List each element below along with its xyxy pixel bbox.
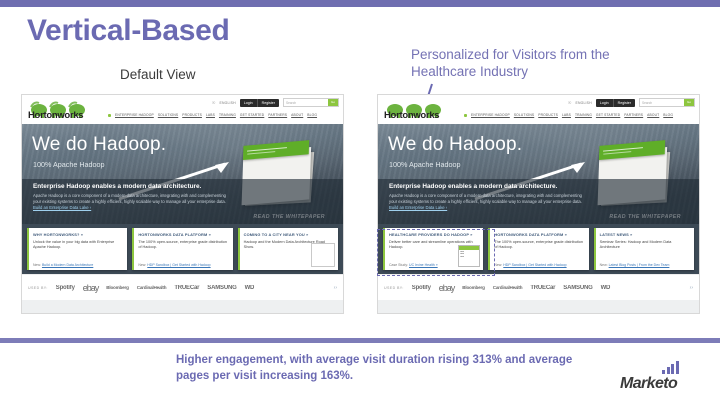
promo-card-title: HORTONWORKS DATA PLATFORM » [138,232,228,237]
footer-strip [22,300,343,313]
partner-logo-cardinalhealth: CardinalHealth [493,285,523,290]
account-buttons[interactable]: Login Register [596,99,635,107]
personalization-highlight-box [377,229,495,276]
hero-band-link[interactable]: Build an Enterprise Data Lake › [33,205,91,210]
partner-logo-samsung: SAMSUNG [563,285,592,291]
nav-item-get-started[interactable]: GET STARTED [240,113,264,117]
personalized-view-screenshot: Hortonworks ☉ ENGLISH Login Register Sea… [378,95,699,313]
globe-icon: ☉ [212,100,216,105]
promo-card-more-link[interactable]: Build a Modern Data Architecture [42,263,93,267]
promo-card-body: The 100% open-source, enterprise grade d… [138,240,228,250]
used-by-label: USED BY: [384,286,404,290]
home-icon[interactable] [108,114,111,117]
main-nav[interactable]: ENTERPRISE HADOOPSOLUTIONSPRODUCTSLABSTR… [108,113,317,117]
nav-item-about[interactable]: ABOUT [647,113,659,117]
header-utility-bar: ☉ ENGLISH Login Register Search Go [212,98,339,107]
nav-item-products[interactable]: PRODUCTS [182,113,202,117]
promo-card-more-link[interactable]: HDP Sandbox | Get Started with Hadoop [147,263,210,267]
hero-band-body: Apache Hadoop is a core component of a m… [389,193,589,212]
hero-subhead: 100% Apache Hadoop [33,160,105,169]
slide: Vertical-Based Default View Personalized… [0,0,720,405]
nav-item-solutions[interactable]: SOLUTIONS [514,113,534,117]
nav-item-blog[interactable]: BLOG [307,113,317,117]
language-label[interactable]: ENGLISH [576,101,592,105]
nav-item-partners[interactable]: PARTNERS [624,113,643,117]
used-by-strip: USED BY:SpotifyebayBloombergCardinalHeal… [22,274,343,300]
promo-card-body: The 100% open-source, enterprise grade d… [494,240,584,250]
promo-card-more-label: New: [600,263,609,267]
search-box[interactable]: Search Go [283,98,339,107]
footer-strip [378,300,699,313]
promo-card-title: LATEST NEWS » [600,232,690,237]
right-column-caption-line-0: Personalized for Visitors from the [411,46,671,63]
slide-kicker: Higher engagement, with average visit du… [176,352,596,384]
partner-logo-ebay: ebay [83,283,99,293]
partner-logo-wd: WD [601,285,611,291]
hero-band-body: Apache Hadoop is a core component of a m… [33,193,233,212]
hero-band-text: Apache Hadoop is a core component of a m… [389,193,582,204]
promo-card-more: New: HDP Sandbox | Get Started with Hado… [138,263,210,267]
nav-item-enterprise-hadoop[interactable]: ENTERPRISE HADOOP [115,113,154,117]
promo-card-more-link[interactable]: HDP Sandbox | Get Started with Hadoop [503,263,566,267]
globe-icon: ☉ [568,100,572,105]
hero-band-text: Apache Hadoop is a core component of a m… [33,193,226,204]
promo-card-more-label: New: [494,263,503,267]
partner-logo-cardinalhealth: CardinalHealth [137,285,167,290]
search-input[interactable]: Search [284,101,328,105]
home-icon[interactable] [464,114,467,117]
right-column-caption-line-1: Healthcare Industry [411,63,671,80]
hero-banner: We do Hadoop. 100% Apache Hadoop READ TH… [378,124,699,224]
promo-card-more: New: HDP Sandbox | Get Started with Hado… [494,263,566,267]
nav-item-labs[interactable]: LABS [206,113,215,117]
partner-logo-truecar: TRUECar [174,285,199,291]
promo-card[interactable]: COMING TO A CITY NEAR YOU »Hadoop and th… [238,228,338,270]
search-box[interactable]: Search Go [639,98,695,107]
promo-card[interactable]: LATEST NEWS »Seminar Series: Hadoop and … [594,228,694,270]
register-button[interactable]: Register [257,99,279,107]
search-input[interactable]: Search [640,101,684,105]
left-column-caption: Default View [120,67,196,82]
search-go-button[interactable]: Go [328,99,338,106]
nav-item-training[interactable]: TRAINING [219,113,236,117]
hero-subhead: 100% Apache Hadoop [389,160,461,169]
top-accent-rule [0,0,720,7]
promo-card[interactable]: HORTONWORKS DATA PLATFORM »The 100% open… [488,228,588,270]
marketo-logo-text: Marketo [620,375,677,393]
nav-item-about[interactable]: ABOUT [291,113,303,117]
page-title: Vertical-Based [27,14,230,48]
login-button[interactable]: Login [240,99,257,107]
partner-logo-samsung: SAMSUNG [207,285,236,291]
partner-logo-bloomberg: Bloomberg [106,285,128,290]
main-nav[interactable]: ENTERPRISE HADOOPSOLUTIONSPRODUCTSLABSTR… [464,113,673,117]
hero-band-link[interactable]: Build an Enterprise Data Lake › [389,205,447,210]
hero-band-title: Enterprise Hadoop enables a modern data … [33,183,201,190]
promo-card-title: COMING TO A CITY NEAR YOU » [244,232,334,237]
account-buttons[interactable]: Login Register [240,99,279,107]
register-button[interactable]: Register [613,99,635,107]
promo-card[interactable]: WHY HORTONWORKS? »Unlock the value in yo… [27,228,127,270]
nav-item-get-started[interactable]: GET STARTED [596,113,620,117]
calendar-widget[interactable] [311,243,335,267]
hero-headline: We do Hadoop. [32,134,166,156]
promo-card-title: HORTONWORKS DATA PLATFORM » [494,232,584,237]
default-view-screenshot: Hortonworks ☉ ENGLISH Login Register Sea… [22,95,343,313]
promo-card-more-label: New: [138,263,147,267]
partner-logo-ebay: ebay [439,283,455,293]
promo-cards-default: WHY HORTONWORKS? »Unlock the value in yo… [22,224,343,274]
promo-card-body: Seminar Series: Hadoop and Modern Data A… [600,240,690,250]
bar-chart-icon [662,360,679,374]
hero-band-title: Enterprise Hadoop enables a modern data … [389,183,557,190]
language-label[interactable]: ENGLISH [220,101,236,105]
partner-logo-bloomberg: Bloomberg [462,285,484,290]
partner-logo-wd: WD [245,285,255,291]
promo-card-more: New: Latest Blog Posts | From the Dev Te… [600,263,670,267]
promo-card-title: WHY HORTONWORKS? » [33,232,123,237]
promo-card-more-link[interactable]: Latest Blog Posts | From the Dev Team [609,263,670,267]
search-go-button[interactable]: Go [684,99,694,106]
promo-card-body: Unlock the value in your big data with E… [33,240,123,250]
partner-logo-spotify: Spotify [56,285,75,291]
nav-item-solutions[interactable]: SOLUTIONS [158,113,178,117]
site-logo-text: Hortonworks [28,110,83,121]
login-button[interactable]: Login [596,99,613,107]
hero-banner: We do Hadoop. 100% Apache Hadoop READ TH… [22,124,343,224]
nav-item-products[interactable]: PRODUCTS [538,113,558,117]
right-column-caption: Personalized for Visitors from theHealth… [411,46,671,80]
bottom-accent-rule [0,338,720,343]
header-utility-bar: ☉ ENGLISH Login Register Search Go [568,98,695,107]
site-header-personalized: Hortonworks ☉ ENGLISH Login Register Sea… [378,95,699,124]
next-arrow-icon[interactable]: ›› [334,285,337,291]
promo-card[interactable]: HORTONWORKS DATA PLATFORM »The 100% open… [132,228,232,270]
partner-logo-spotify: Spotify [412,285,431,291]
nav-item-blog[interactable]: BLOG [663,113,673,117]
hero-headline: We do Hadoop. [388,134,522,156]
nav-item-training[interactable]: TRAINING [575,113,592,117]
nav-item-enterprise-hadoop[interactable]: ENTERPRISE HADOOP [471,113,510,117]
partner-logo-truecar: TRUECar [530,285,555,291]
site-header: Hortonworks ☉ ENGLISH Login Register Sea… [22,95,343,124]
promo-card-more-label: New: [33,263,42,267]
promo-card-more: New: Build a Modern Data Architecture [33,263,93,267]
next-arrow-icon[interactable]: ›› [690,285,693,291]
used-by-strip: USED BY:SpotifyebayBloombergCardinalHeal… [378,274,699,300]
nav-item-labs[interactable]: LABS [562,113,571,117]
used-by-label: USED BY: [28,286,48,290]
site-logo-text: Hortonworks [384,110,439,121]
nav-item-partners[interactable]: PARTNERS [268,113,287,117]
